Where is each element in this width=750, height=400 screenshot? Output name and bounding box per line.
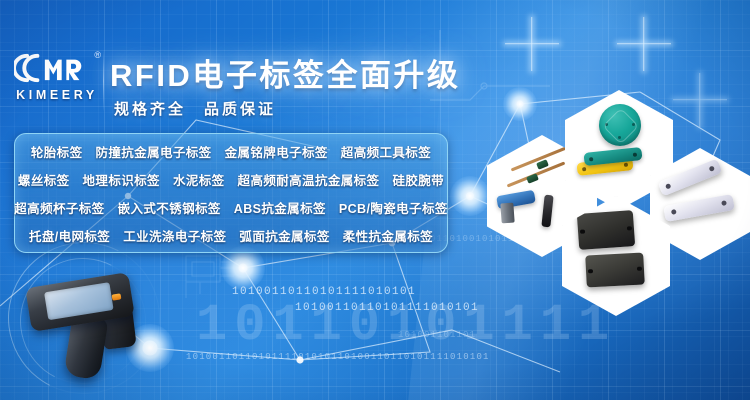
edge-vignette [0, 0, 750, 400]
rfid-product-banner: 10110101111 10100110110101111010101 1010… [0, 0, 750, 400]
